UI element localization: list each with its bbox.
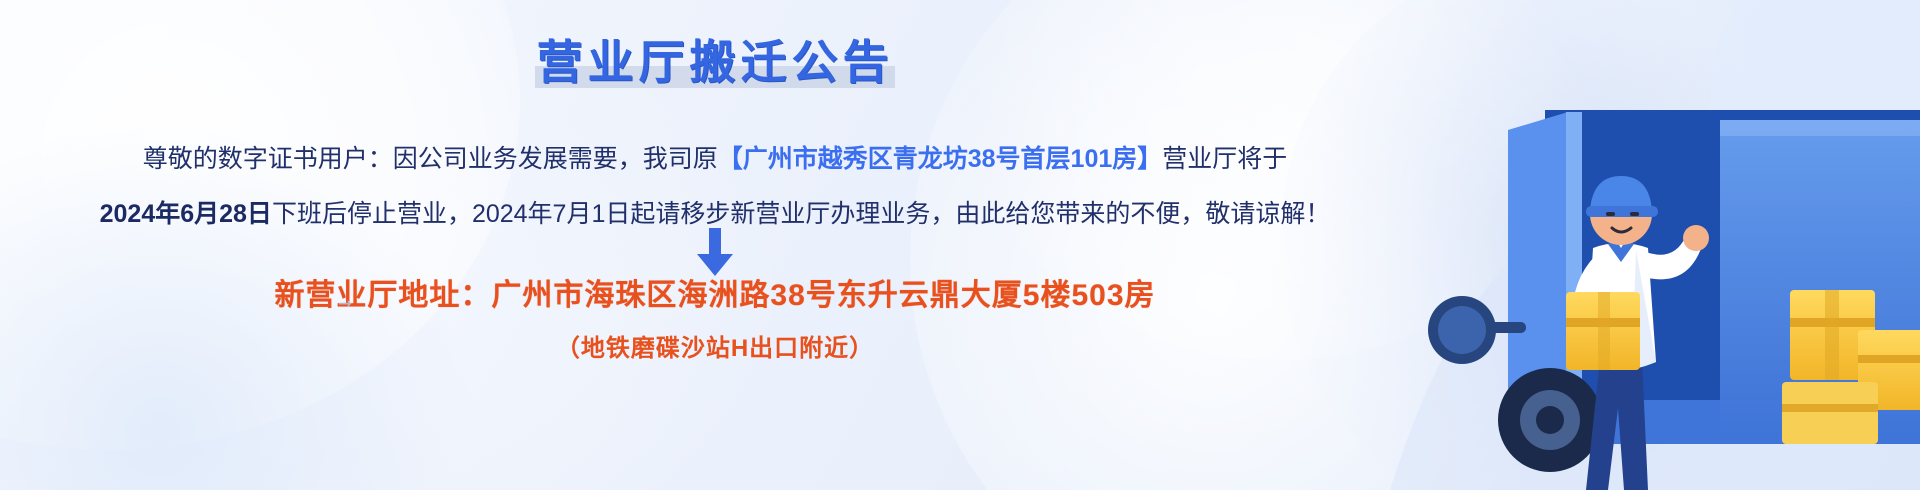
announcement-banner: 营业厅搬迁公告 尊敬的数字证书用户：因公司业务发展需要，我司原【广州市越秀区青龙… <box>0 0 1920 490</box>
moving-truck-illustration <box>1390 0 1920 490</box>
new-address-block: ➞ 新营业厅地址：广州市海珠区海洲路38号东升云鼎大厦5楼503房 （地铁磨碟沙… <box>0 270 1430 363</box>
small-arrow-right-icon: ➞ <box>338 294 352 314</box>
closing-date: 2024年6月28日 <box>100 200 272 228</box>
old-address-highlight: 【广州市越秀区青龙坊38号首层101房】 <box>718 145 1163 173</box>
paragraph-line1-part1: 尊敬的数字证书用户：因公司业务发展需要，我司原 <box>143 145 718 173</box>
page-title-container: 营业厅搬迁公告 <box>0 26 1430 92</box>
new-address-sub: （地铁磨碟沙站H出口附近） <box>0 328 1430 363</box>
arrow-container <box>0 228 1430 276</box>
arrow-down-icon <box>695 228 735 276</box>
paragraph-line2-rest: 下班后停止营业，2024年7月1日起请移步新营业厅办理业务，由此给您带来的不便，… <box>272 200 1330 228</box>
announcement-content: 营业厅搬迁公告 尊敬的数字证书用户：因公司业务发展需要，我司原【广州市越秀区青龙… <box>0 0 1430 490</box>
announcement-paragraph: 尊敬的数字证书用户：因公司业务发展需要，我司原【广州市越秀区青龙坊38号首层10… <box>0 132 1430 242</box>
new-address-main: 新营业厅地址：广州市海珠区海洲路38号东升云鼎大厦5楼503房 <box>0 270 1430 314</box>
page-title: 营业厅搬迁公告 <box>537 26 894 92</box>
paragraph-line1-part2: 营业厅将于 <box>1162 145 1287 173</box>
paragraph-line-1: 尊敬的数字证书用户：因公司业务发展需要，我司原【广州市越秀区青龙坊38号首层10… <box>0 132 1430 187</box>
